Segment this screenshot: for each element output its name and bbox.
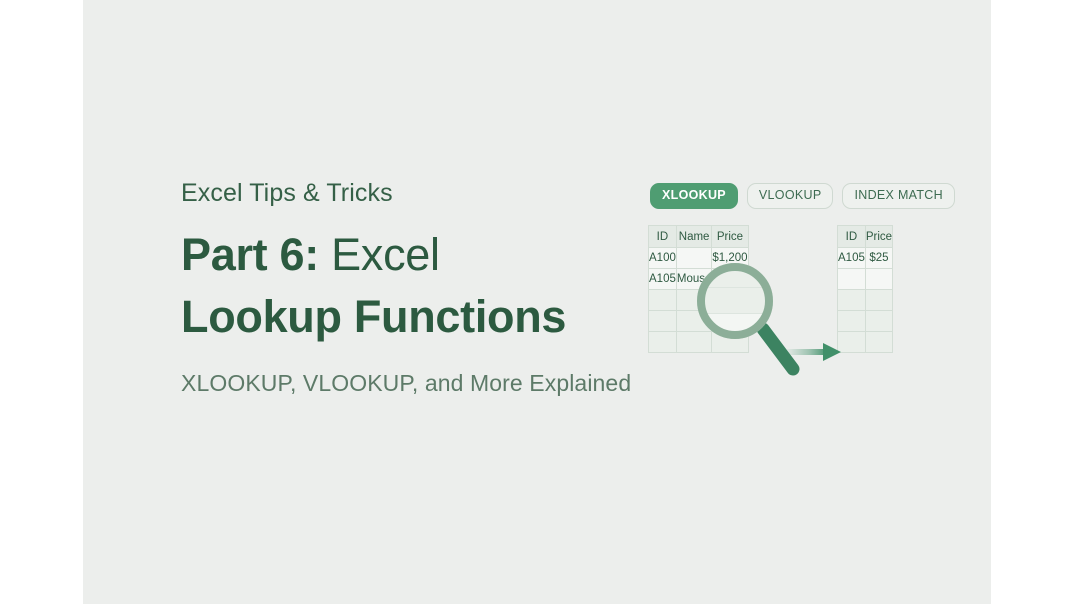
- cell-price[interactable]: $25: [712, 269, 748, 290]
- table-row[interactable]: [649, 311, 749, 332]
- tab-vlookup[interactable]: VLOOKUP: [747, 183, 834, 209]
- result-table: ID Price A105 $25: [837, 225, 893, 353]
- table-row[interactable]: A105 Mouse $25: [649, 269, 749, 290]
- table-row[interactable]: [838, 311, 893, 332]
- cell-id[interactable]: A100: [649, 248, 677, 269]
- headline-part-light: Excel: [319, 229, 440, 280]
- cell-id[interactable]: A105: [649, 269, 677, 290]
- cell-id[interactable]: [838, 311, 866, 332]
- table-row[interactable]: $25: [649, 290, 749, 311]
- cell-price[interactable]: [712, 332, 748, 353]
- col-header-name: Name: [676, 226, 712, 248]
- cell-id[interactable]: [838, 269, 866, 290]
- table-row[interactable]: [649, 332, 749, 353]
- cell-price[interactable]: [865, 290, 892, 311]
- cell-id[interactable]: [838, 290, 866, 311]
- table-header-row: ID Name Price: [649, 226, 749, 248]
- col-header-price: Price: [865, 226, 892, 248]
- col-header-id: ID: [649, 226, 677, 248]
- cell-name[interactable]: [676, 311, 712, 332]
- cell-price[interactable]: [865, 311, 892, 332]
- table-row[interactable]: [838, 290, 893, 311]
- cell-id[interactable]: [649, 290, 677, 311]
- slide-canvas: Excel Tips & Tricks Part 6: Excel Lookup…: [83, 0, 991, 604]
- cell-id[interactable]: A105: [838, 248, 866, 269]
- cell-id[interactable]: [649, 332, 677, 353]
- col-header-id: ID: [838, 226, 866, 248]
- table-row[interactable]: A100 $1,200: [649, 248, 749, 269]
- title-block: Excel Tips & Tricks Part 6: Excel Lookup…: [181, 178, 651, 397]
- col-header-price: Price: [712, 226, 748, 248]
- table-header-row: ID Price: [838, 226, 893, 248]
- cell-name[interactable]: [676, 248, 712, 269]
- lookup-illustration: XLOOKUP VLOOKUP INDEX MATCH ID Name Pric…: [643, 183, 963, 363]
- function-tabs: XLOOKUP VLOOKUP INDEX MATCH: [650, 183, 955, 209]
- headline-part-bold: Part 6:: [181, 229, 319, 280]
- cell-price[interactable]: $25: [865, 248, 892, 269]
- cell-price[interactable]: [865, 269, 892, 290]
- table-row[interactable]: A105 $25: [838, 248, 893, 269]
- source-table: ID Name Price A100 $1,200 A105 Mouse $25: [648, 225, 749, 353]
- page-title: Part 6: Excel Lookup Functions: [181, 224, 651, 348]
- cell-price[interactable]: [712, 311, 748, 332]
- cell-name[interactable]: [676, 290, 712, 311]
- tab-index-match[interactable]: INDEX MATCH: [842, 183, 955, 209]
- eyebrow-text: Excel Tips & Tricks: [181, 178, 651, 208]
- cell-price[interactable]: [865, 332, 892, 353]
- cell-name[interactable]: Mouse: [676, 269, 712, 290]
- tab-xlookup[interactable]: XLOOKUP: [650, 183, 738, 209]
- arrow-right-icon: [787, 340, 849, 364]
- table-row[interactable]: [838, 269, 893, 290]
- cell-price[interactable]: $25: [712, 290, 748, 311]
- cell-id[interactable]: [649, 311, 677, 332]
- subtitle-text: XLOOKUP, VLOOKUP, and More Explained: [181, 370, 651, 397]
- cell-price[interactable]: $1,200: [712, 248, 748, 269]
- cell-name[interactable]: [676, 332, 712, 353]
- headline-line-two: Lookup Functions: [181, 286, 651, 348]
